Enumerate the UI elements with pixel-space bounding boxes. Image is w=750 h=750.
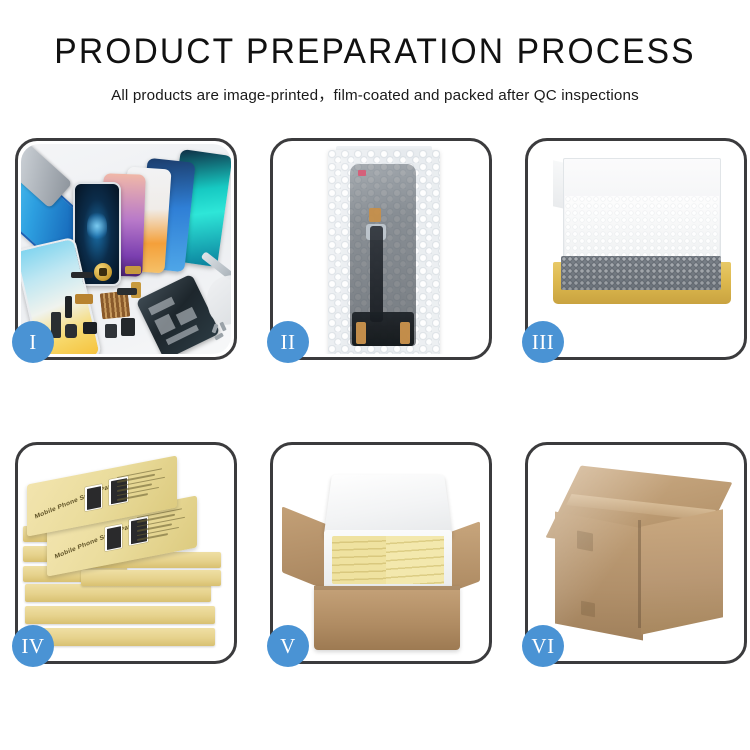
stacked-box: [25, 584, 211, 602]
process-step-panel-1[interactable]: I: [15, 138, 237, 360]
carton-front-wall: [314, 586, 460, 650]
gray-foam-padding: [561, 256, 721, 290]
carton-flap-tab: [581, 601, 595, 618]
lcd-bottom-module: [352, 312, 414, 346]
step-badge-6: VI: [522, 625, 564, 667]
carton-right-face: [641, 509, 723, 634]
process-step-panel-4[interactable]: Mobile Phone Spare Parts Mobile Phone Sp…: [15, 442, 237, 664]
step-badge-3: III: [522, 321, 564, 363]
spec-text-lines: [117, 467, 169, 511]
packed-yellow-boxes: [332, 536, 444, 584]
speaker-module-part: [94, 263, 112, 281]
carton-flap-left: [282, 506, 330, 591]
carton-corner-seam: [638, 520, 641, 628]
motherboard-part: [136, 274, 221, 354]
process-steps-grid: I II III: [15, 138, 735, 664]
process-step-panel-6[interactable]: VI: [525, 442, 747, 664]
step-badge-2: II: [267, 321, 309, 363]
stacked-box: [81, 570, 221, 586]
photo-foam-lined-kraft-tray: [531, 144, 741, 354]
step-badge-5: V: [267, 625, 309, 667]
box-lid-label: Mobile Phone Spare Parts: [34, 481, 117, 521]
small-component-part: [65, 324, 77, 338]
flex-ribbon-cable: [370, 226, 383, 322]
stacked-box: [25, 606, 215, 624]
gold-contact-part: [75, 294, 93, 304]
page-header: PRODUCT PREPARATION PROCESS All products…: [0, 0, 750, 105]
qc-sticker: [358, 170, 366, 176]
photo-stacked-retail-boxes: Mobile Phone Spare Parts Mobile Phone Sp…: [21, 448, 231, 658]
small-component-part: [83, 322, 97, 334]
foam-lid-open: [323, 475, 452, 538]
box-stack: Mobile Phone Spare Parts Mobile Phone Sp…: [21, 448, 231, 658]
screws-group: [213, 322, 231, 342]
flex-cable-part: [65, 296, 72, 318]
white-foam-sheet: [565, 196, 719, 264]
page-title: PRODUCT PREPARATION PROCESS: [15, 34, 735, 69]
page-subtitle: All products are image-printed，film-coat…: [0, 83, 750, 105]
small-component-part: [105, 324, 117, 338]
process-step-panel-3[interactable]: III: [525, 138, 747, 360]
photo-bubble-wrapped-screen: [276, 144, 486, 354]
photo-sealed-shipping-carton: [531, 448, 741, 658]
step-badge-4: IV: [12, 625, 54, 667]
photo-phone-parts-collection: [21, 144, 231, 354]
carton-flap-tab: [577, 530, 593, 551]
step-badge-1: I: [12, 321, 54, 363]
carton-left-face: [555, 511, 643, 640]
photo-carton-with-foam-insert: [276, 448, 486, 658]
flex-cable-part: [71, 272, 93, 278]
adhesive-tape-part: [369, 208, 381, 222]
process-step-panel-2[interactable]: II: [270, 138, 492, 360]
screen-print-image: [85, 484, 102, 511]
flex-cable-part: [117, 288, 137, 295]
process-step-panel-5[interactable]: V: [270, 442, 492, 664]
screen-print-image: [105, 524, 122, 551]
small-component-part: [121, 318, 135, 336]
gold-contact-part: [125, 266, 141, 274]
